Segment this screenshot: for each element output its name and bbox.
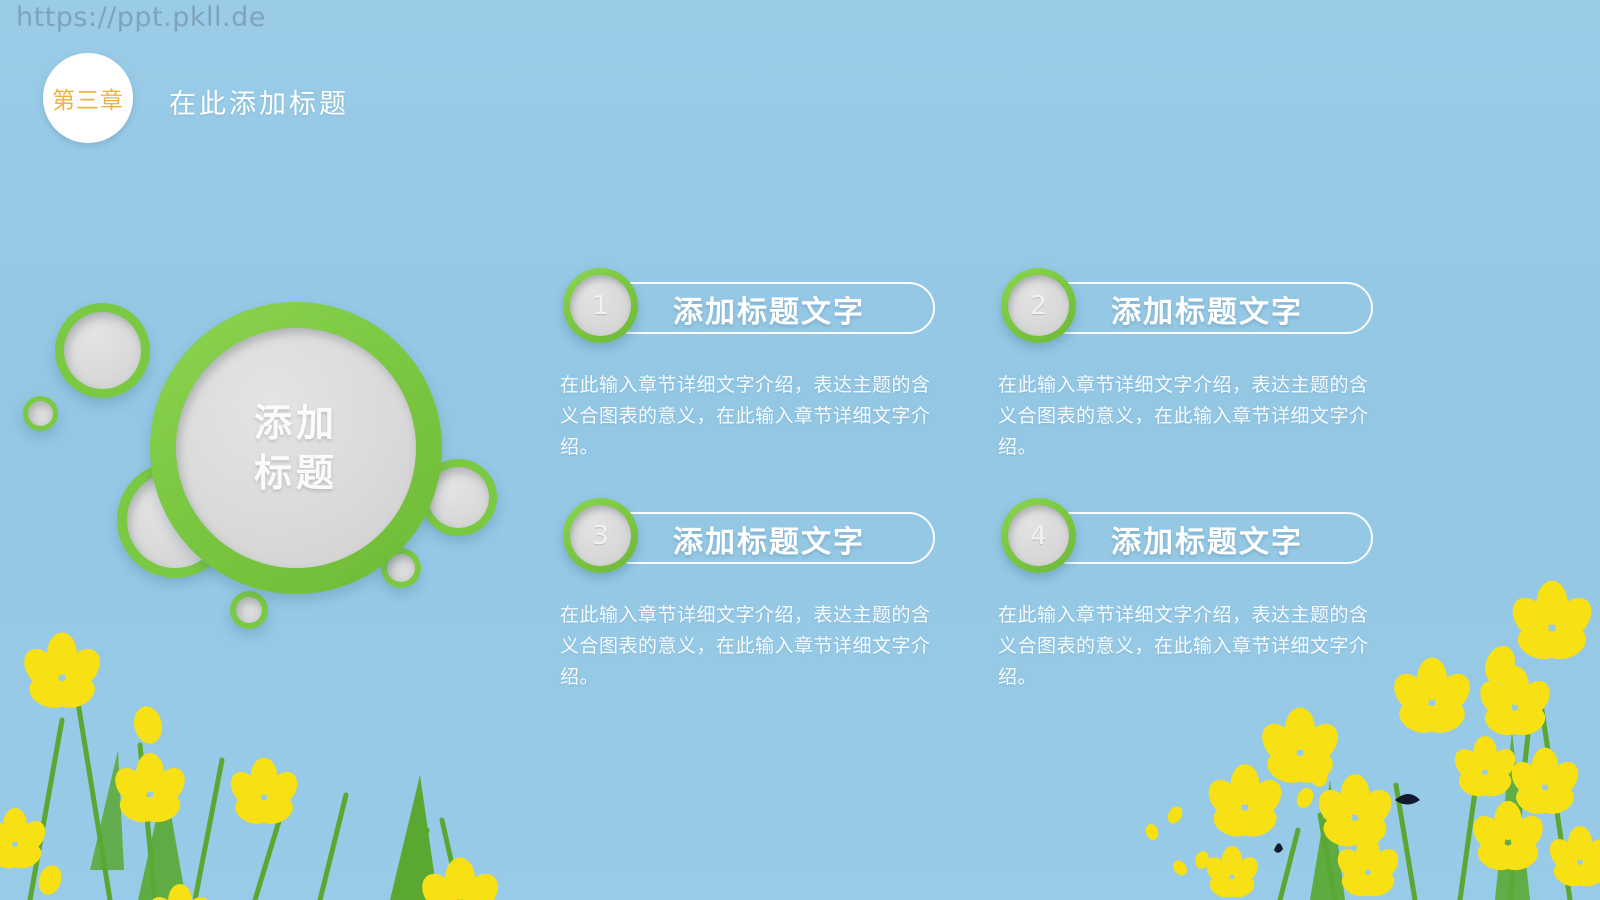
decor-circle-inner [64,312,141,389]
chapter-badge: 第三章 [43,53,133,143]
feature-title: 添加标题文字 [1111,517,1303,561]
hero-main-circle-inner [176,328,416,568]
feature-number-label: 2 [1008,275,1069,336]
feature-body: 在此输入章节详细文字介绍，表达主题的含义合图表的意义，在此输入章节详细文字介绍。 [560,600,938,693]
feature-number-label: 1 [570,275,631,336]
decor-circle-inner [236,597,262,623]
feature-body: 在此输入章节详细文字介绍，表达主题的含义合图表的意义，在此输入章节详细文字介绍。 [998,370,1376,463]
feature-number-label: 4 [1008,505,1069,566]
decor-circle-tiny-bottom [230,591,268,629]
decor-circle-inner [28,401,53,426]
feature-title: 添加标题文字 [673,287,865,331]
decor-circle-upper-left [55,303,150,398]
feature-number-label: 3 [570,505,631,566]
hero-main-circle [150,302,442,594]
feature-title: 添加标题文字 [1111,287,1303,331]
chapter-badge-label: 第三章 [52,81,124,115]
feature-body: 在此输入章节详细文字介绍，表达主题的含义合图表的意义，在此输入章节详细文字介绍。 [998,600,1376,693]
feature-number-badge: 4 [1001,498,1076,573]
slide-canvas: https://ppt.pkll.de 第三章 在此添加标题 添加 标题 1 添… [0,0,1600,900]
feature-number-badge: 3 [563,498,638,573]
decor-circle-tiny-left [23,396,58,431]
watermark-text: https://ppt.pkll.de [16,2,266,33]
feature-title: 添加标题文字 [673,517,865,561]
feature-body: 在此输入章节详细文字介绍，表达主题的含义合图表的意义，在此输入章节详细文字介绍。 [560,370,938,463]
page-title: 在此添加标题 [169,82,349,121]
feature-number-badge: 1 [563,268,638,343]
feature-number-badge: 2 [1001,268,1076,343]
